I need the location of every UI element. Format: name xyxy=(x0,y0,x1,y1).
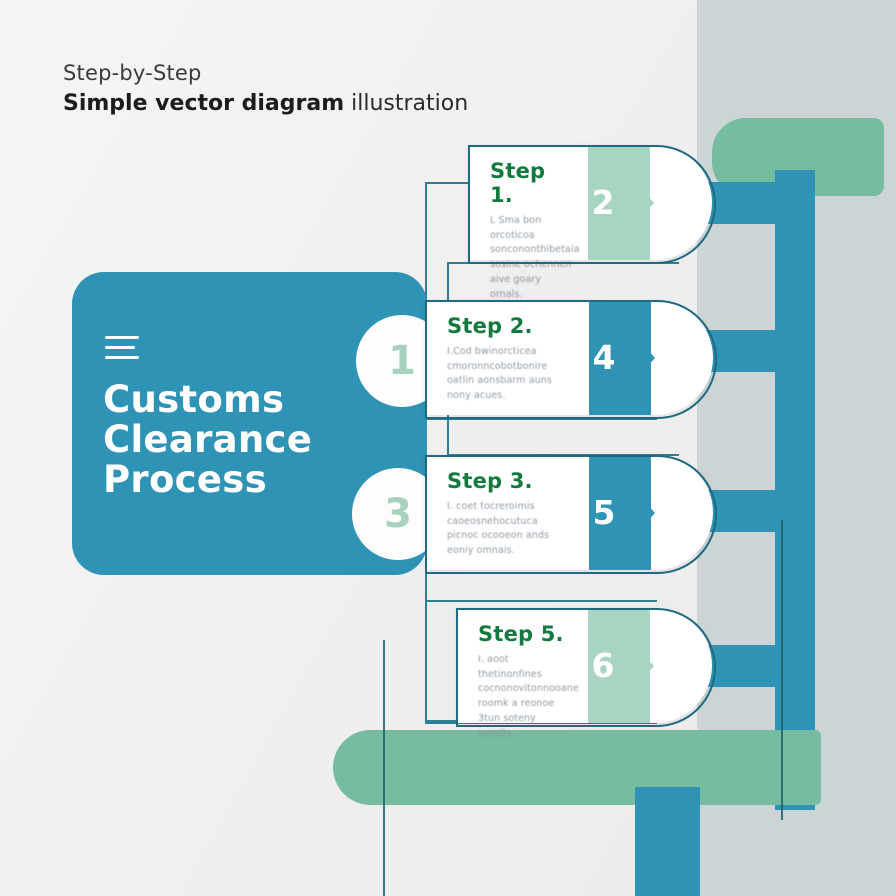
step-number: 6 xyxy=(592,646,615,685)
hamburger-menu-icon[interactable] xyxy=(105,336,139,366)
step-card[interactable]: Step 2. I.Cod bwinorcticea cmoronncobotb… xyxy=(425,300,713,415)
hamburger-bar-3 xyxy=(105,356,139,359)
step-cap xyxy=(650,145,712,260)
step-label: Step 5. xyxy=(478,622,572,646)
step-number: 2 xyxy=(592,183,615,222)
step-cap xyxy=(651,300,713,415)
header-kicker: Step-by-Step xyxy=(63,60,468,86)
step-card[interactable]: Step 1. L Sma bon orcoticoa soncononthib… xyxy=(468,145,712,260)
step-card-body: Step 1. L Sma bon orcoticoa soncononthib… xyxy=(468,145,588,260)
page-title-line-2: Clearance xyxy=(103,420,413,460)
step-description: I. coet tocreroimis caoeosnehocutuca pic… xyxy=(447,500,555,559)
hamburger-bar-2 xyxy=(105,346,135,349)
header-block: Step-by-Step Simple vector diagram illus… xyxy=(63,60,468,119)
decor-hairline-left xyxy=(383,640,385,896)
step-description: I.Cod bwinorcticea cmoronncobotbonire oa… xyxy=(447,345,555,404)
step-label: Step 3. xyxy=(447,469,573,493)
step-number: 5 xyxy=(593,493,616,532)
step-label: Step 1. xyxy=(490,159,572,207)
hamburger-bar-1 xyxy=(105,336,139,339)
step-card[interactable]: Step 5. I. aoot thetinonfines cocnonovit… xyxy=(456,608,712,723)
step-card[interactable]: Step 3. I. coet tocreroimis caoeosnehocu… xyxy=(425,455,713,570)
step-card-body: Step 3. I. coet tocreroimis caoeosnehocu… xyxy=(425,455,589,570)
step-description: L Sma bon orcoticoa soncononthibetaia so… xyxy=(490,214,572,302)
decor-blue-vertical-bottom xyxy=(635,787,700,896)
chevron-right-icon xyxy=(629,329,655,387)
decor-hairline-right xyxy=(781,520,783,820)
step-label: Step 2. xyxy=(447,314,573,338)
step-cap xyxy=(651,455,713,570)
step-number: 4 xyxy=(593,338,616,377)
header-title-light: illustration xyxy=(344,91,468,116)
step-card-body: Step 5. I. aoot thetinonfines cocnonovit… xyxy=(456,608,588,723)
step-cap xyxy=(650,608,712,723)
step-card-body: Step 2. I.Cod bwinorcticea cmoronncobotb… xyxy=(425,300,589,415)
infographic-canvas: Step-by-Step Simple vector diagram illus… xyxy=(0,0,896,896)
chevron-right-icon xyxy=(628,637,654,695)
chevron-right-icon xyxy=(629,484,655,542)
chevron-right-icon xyxy=(628,174,654,232)
header-title-bold: Simple vector diagram xyxy=(63,91,344,116)
decor-green-bar-bottom xyxy=(333,730,821,805)
step-description: I. aoot thetinonfines cocnonovitonnooane… xyxy=(478,653,572,741)
header-title: Simple vector diagram illustration xyxy=(63,90,468,119)
